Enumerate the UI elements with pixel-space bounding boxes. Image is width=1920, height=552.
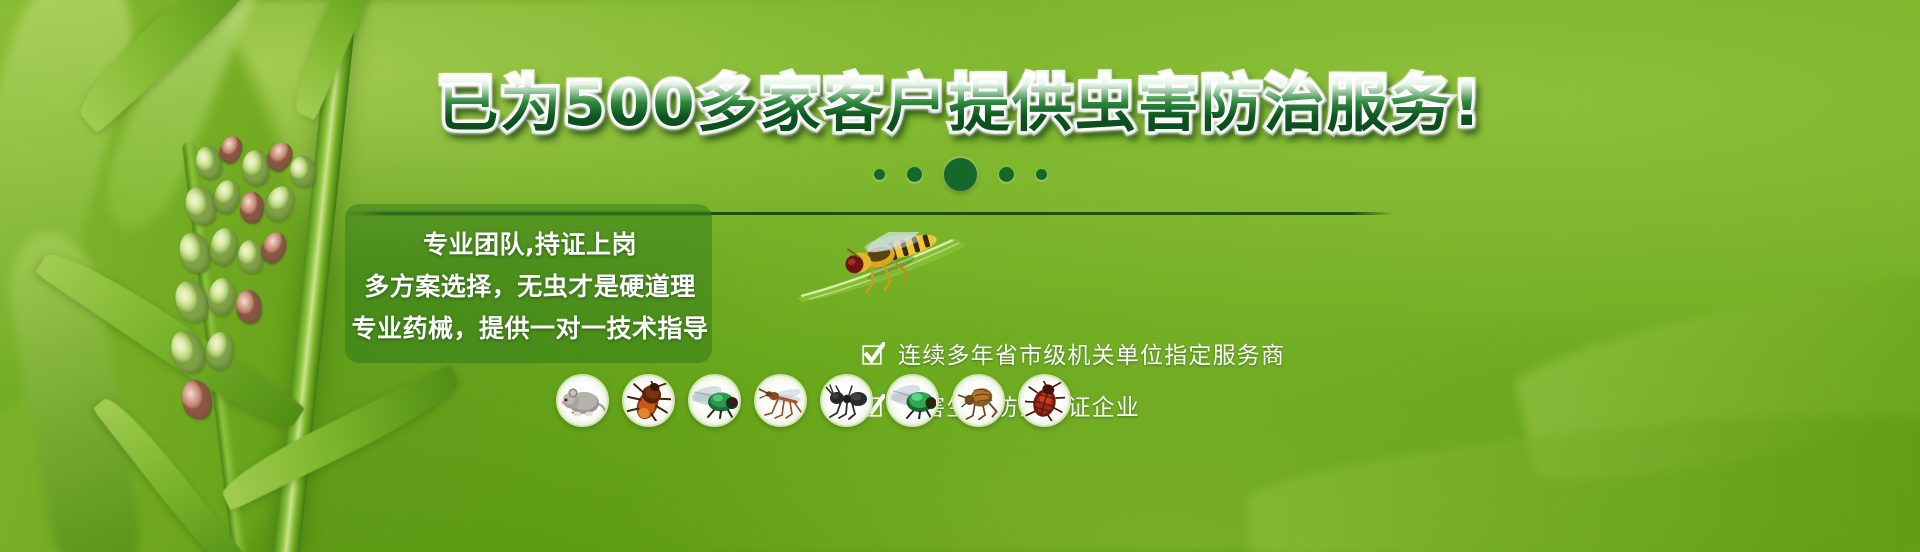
bedbug-icon [1025, 381, 1065, 421]
dot-medium-2 [999, 167, 1014, 182]
hoverfly-icon [795, 232, 975, 302]
pest-control-banner: 已为500多家客户提供虫害防治服务! 已为500多家客户提供虫害防治服务! 专业… [0, 0, 1920, 552]
list-item: 连续多年省市级机关单位指定服务商 [862, 336, 1285, 370]
mouse-icon [560, 382, 606, 420]
pest-icon-bedbug[interactable]: 臭虫 [1018, 374, 1071, 427]
dot-small [874, 169, 885, 180]
pest-icon-greenbottle-fly[interactable]: 绿头蝇 [886, 374, 939, 427]
dot-large [944, 158, 977, 191]
dot-medium [907, 167, 922, 182]
list-item-label: 连续多年省市级机关单位指定服务商 [898, 336, 1285, 370]
hoverfly-illustration [795, 232, 975, 302]
mosquito-icon [758, 382, 804, 420]
pest-icon-flea[interactable]: 跳蚤 [952, 374, 1005, 427]
feature-line-3: 专业药械，提供一对一技术指导 [330, 309, 730, 345]
pest-icon-row: 鼠 蟑螂 [556, 374, 1071, 427]
pest-icon-mosquito[interactable]: 蚊 [754, 374, 807, 427]
pest-icon-cockroach[interactable]: 蟑螂 [622, 374, 675, 427]
feature-panel-text: 专业团队,持证上岗 多方案选择，无虫才是硬道理 专业药械，提供一对一技术指导 [330, 204, 730, 366]
feature-line-1: 专业团队,持证上岗 [330, 225, 730, 261]
feature-line-2: 多方案选择，无虫才是硬道理 [330, 267, 730, 303]
cockroach-icon [627, 381, 671, 421]
flea-icon [958, 382, 1000, 420]
pest-icon-blowfly[interactable]: 苍蝇 [688, 374, 741, 427]
checkbox-checked-icon [862, 342, 885, 365]
pest-icon-mouse[interactable]: 鼠 [556, 374, 609, 427]
greenbottle-fly-icon [890, 383, 936, 419]
pest-icon-ant[interactable]: 蚂蚁 [820, 374, 873, 427]
page-title: 已为500多家客户提供虫害防治服务! [0, 74, 1920, 135]
ant-icon [825, 382, 869, 420]
dot-small-2 [1036, 169, 1047, 180]
decorative-dots [0, 158, 1920, 191]
blowfly-icon [692, 383, 738, 419]
